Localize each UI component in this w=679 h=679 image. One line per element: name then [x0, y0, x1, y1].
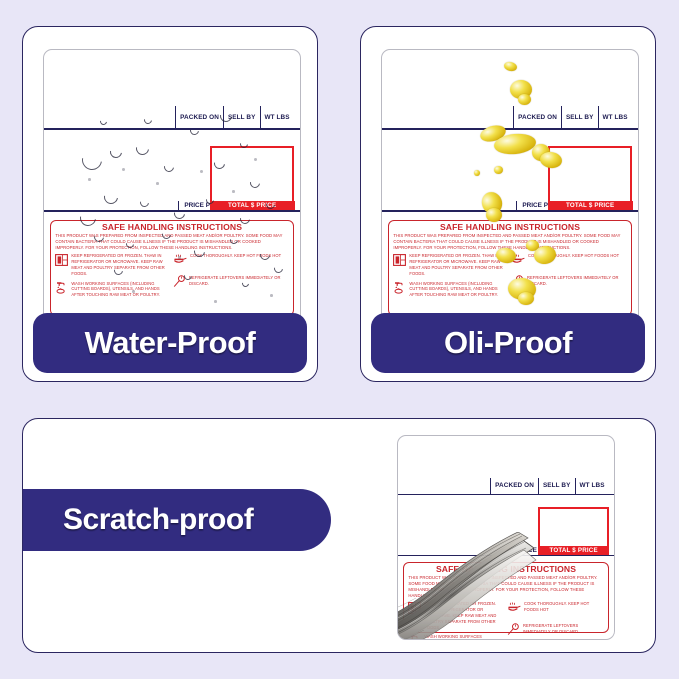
banner-label: Water-Proof	[85, 325, 256, 361]
wash-hands-faucet-icon	[408, 634, 421, 640]
safe-handling-block: SAFE HANDLING INSTRUCTIONS THIS PRODUCT …	[403, 562, 608, 633]
panel-oil-proof: PACKED ON SELL BY WT LBS PRICE PER LB TO…	[360, 26, 656, 382]
banner-scratch-proof: Scratch-proof	[22, 489, 331, 551]
safe-handling-title: SAFE HANDLING INSTRUCTIONS	[408, 565, 603, 575]
label-header-row: PACKED ON SELL BY WT LBS	[175, 106, 293, 128]
banner-water-proof: Water-Proof	[33, 313, 307, 373]
label-rule-mid	[44, 210, 300, 212]
label-rule-mid	[398, 555, 614, 557]
refrigerator-icon	[55, 253, 68, 271]
safe-handling-item-text: WASH WORKING SURFACES (INCLUDING CUTTING…	[71, 281, 171, 299]
cook-pan-icon	[511, 253, 525, 271]
header-sell-by: SELL BY	[538, 478, 575, 494]
safe-handling-item-text: WASH WORKING SURFACES (INCLUDING CUTTING…	[409, 281, 509, 299]
safe-handling-item-text: REFRIGERATE LEFTOVERS IMMEDIATELY OR DIS…	[527, 275, 627, 287]
total-price-box: TOTAL $ PRICE	[210, 146, 294, 210]
panel-water-proof: PACKED ON SELL BY WT LBS PRICE PER LB TO…	[22, 26, 318, 382]
label-header-row: PACKED ON SELL BY WT LBS	[490, 478, 608, 494]
safe-handling-block: SAFE HANDLING INSTRUCTIONS THIS PRODUCT …	[388, 220, 631, 316]
label-header-row: PACKED ON SELL BY WT LBS	[513, 106, 631, 128]
safe-handling-body: THIS PRODUCT WAS PREPARED FROM INSPECTED…	[393, 233, 626, 251]
total-price-label: TOTAL $ PRICE	[210, 201, 295, 210]
header-packed-on: PACKED ON	[490, 478, 538, 494]
label-rule-mid	[382, 210, 638, 212]
thermometer-icon	[173, 275, 186, 293]
label-rule-top	[398, 494, 614, 496]
thermometer-icon	[507, 623, 520, 640]
safe-handling-title: SAFE HANDLING INSTRUCTIONS	[55, 223, 288, 233]
wash-hands-faucet-icon	[393, 281, 406, 299]
safe-handling-item-text: KEEP REFRIGERATED OR FROZEN. THAW IN REF…	[424, 601, 505, 631]
panel-scratch-proof: PACKED ON SELL BY WT LBS PRICE PER LB TO…	[22, 418, 656, 653]
header-packed-on: PACKED ON	[175, 106, 223, 128]
total-price-box: TOTAL $ PRICE	[538, 507, 609, 555]
label-rule-top	[44, 128, 300, 130]
total-price-label: TOTAL $ PRICE	[538, 546, 610, 555]
safe-handling-item-text: COOK THOROUGHLY. KEEP HOT FOODS HOT	[190, 253, 281, 259]
refrigerator-icon	[408, 601, 421, 619]
meat-label-oil: PACKED ON SELL BY WT LBS PRICE PER LB TO…	[381, 49, 639, 325]
safe-handling-body: THIS PRODUCT WAS PREPARED FROM INSPECTED…	[408, 575, 603, 599]
cook-pan-icon	[173, 253, 187, 271]
safe-handling-item-text: KEEP REFRIGERATED OR FROZEN. THAW IN REF…	[71, 253, 171, 277]
total-price-box: TOTAL $ PRICE	[548, 146, 632, 210]
refrigerator-icon	[393, 253, 406, 271]
banner-label: Oli-Proof	[444, 325, 572, 361]
cook-pan-icon	[507, 601, 521, 619]
meat-label-scratch: PACKED ON SELL BY WT LBS PRICE PER LB TO…	[397, 435, 615, 640]
safe-handling-item-text: COOK THOROUGHLY. KEEP HOT FOODS HOT	[528, 253, 619, 259]
safe-handling-item-text: COOK THOROUGHLY. KEEP HOT FOODS HOT	[524, 601, 604, 613]
label-rule-top	[382, 128, 638, 130]
banner-oil-proof: Oli-Proof	[371, 313, 645, 373]
wash-hands-faucet-icon	[55, 281, 68, 299]
safe-handling-item-text: REFRIGERATE LEFTOVERS IMMEDIATELY OR DIS…	[523, 623, 604, 635]
header-sell-by: SELL BY	[223, 106, 260, 128]
meat-label-water: PACKED ON SELL BY WT LBS PRICE PER LB TO…	[43, 49, 301, 325]
safe-handling-item-text: WASH WORKING SURFACES (INCLUDING CUTTING…	[424, 634, 505, 640]
header-wt-lbs: WT LBS	[260, 106, 294, 128]
safe-handling-item-text: REFRIGERATE LEFTOVERS IMMEDIATELY OR DIS…	[189, 275, 289, 287]
safe-handling-block: SAFE HANDLING INSTRUCTIONS THIS PRODUCT …	[50, 220, 293, 316]
banner-label: Scratch-proof	[63, 503, 253, 537]
safe-handling-item-text: KEEP REFRIGERATED OR FROZEN. THAW IN REF…	[409, 253, 509, 277]
header-sell-by: SELL BY	[561, 106, 598, 128]
feature-collage: PACKED ON SELL BY WT LBS PRICE PER LB TO…	[0, 0, 679, 679]
header-packed-on: PACKED ON	[513, 106, 561, 128]
header-wt-lbs: WT LBS	[598, 106, 632, 128]
safe-handling-title: SAFE HANDLING INSTRUCTIONS	[393, 223, 626, 233]
thermometer-icon	[511, 275, 524, 293]
total-price-label: TOTAL $ PRICE	[548, 201, 633, 210]
header-wt-lbs: WT LBS	[575, 478, 609, 494]
safe-handling-body: THIS PRODUCT WAS PREPARED FROM INSPECTED…	[55, 233, 288, 251]
